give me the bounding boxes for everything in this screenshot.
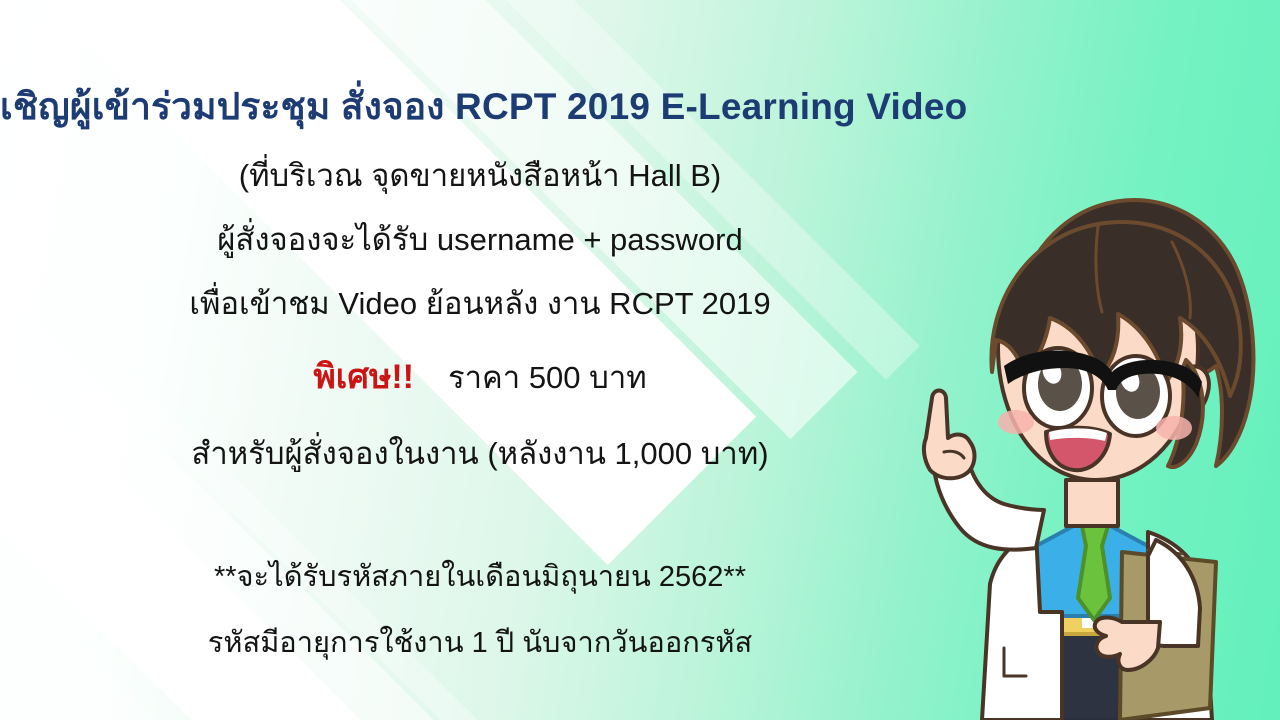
promo-slide: เชิญผู้เข้าร่วมประชุม สั่งจอง RCPT 2019 … xyxy=(0,0,1280,720)
pointing-hand xyxy=(924,391,975,479)
price-text: ราคา 500 บาท xyxy=(448,360,647,395)
text-content: เชิญผู้เข้าร่วมประชุม สั่งจอง RCPT 2019 … xyxy=(0,0,960,720)
condition-line: สำหรับผู้สั่งจองในงาน (หลังงาน 1,000 บาท… xyxy=(0,438,960,471)
special-badge: พิเศษ!! xyxy=(313,358,414,396)
price-row: พิเศษ!!ราคา 500 บาท xyxy=(0,360,960,396)
note-line-1: **จะได้รับรหัสภายในเดือนมิถุนายน 2562** xyxy=(0,562,960,592)
neck xyxy=(1066,480,1118,526)
note-line-2: รหัสมีอายุการใช้งาน 1 ปี นับจากวันออกรหั… xyxy=(0,628,960,658)
tie xyxy=(1078,526,1110,620)
slide-title: เชิญผู้เข้าร่วมประชุม สั่งจอง RCPT 2019 … xyxy=(0,88,960,127)
credentials-line: ผู้สั่งจองจะได้รับ username + password xyxy=(0,224,960,257)
video-access-line: เพื่อเข้าชม Video ย้อนหลัง งาน RCPT 2019 xyxy=(0,288,960,321)
venue-line: (ที่บริเวณ จุดขายหนังสือหน้า Hall B) xyxy=(0,160,960,193)
cartoon-doctor-illustration xyxy=(886,160,1280,720)
blush-right xyxy=(1156,416,1192,440)
blush-left xyxy=(998,410,1034,434)
